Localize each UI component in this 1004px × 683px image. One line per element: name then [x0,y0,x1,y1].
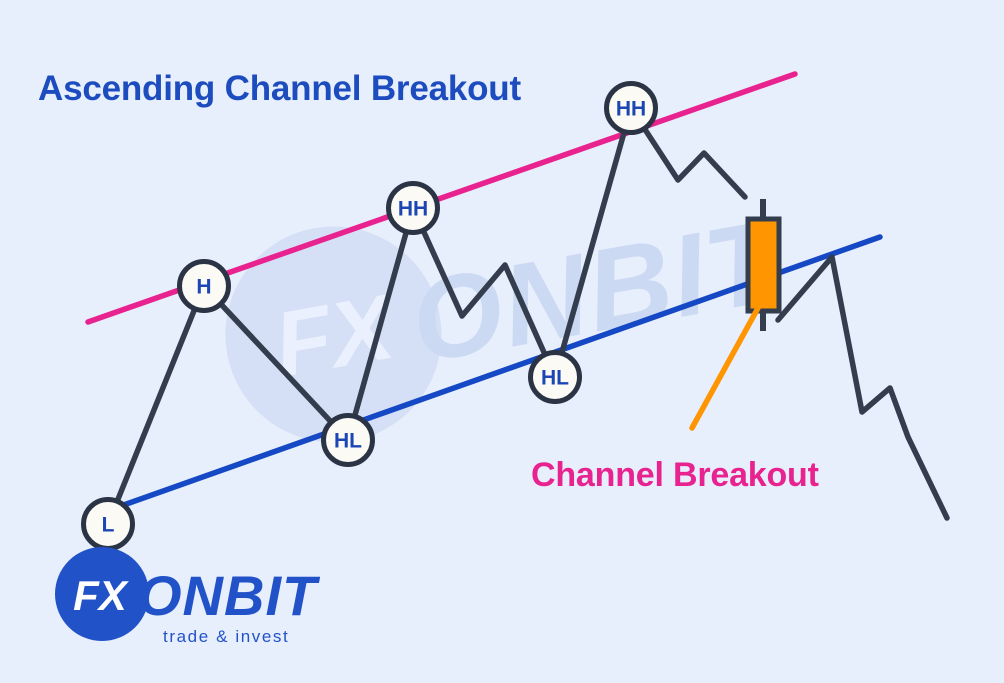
brand-logo[interactable]: FX ONBIT trade & invest [0,0,1004,683]
logo-wordmark: ONBIT [138,564,321,627]
logo-fx-text: FX [73,572,130,619]
logo-tagline: trade & invest [163,627,289,646]
diagram-canvas: FX ONBIT L H HL HH [0,0,1004,683]
